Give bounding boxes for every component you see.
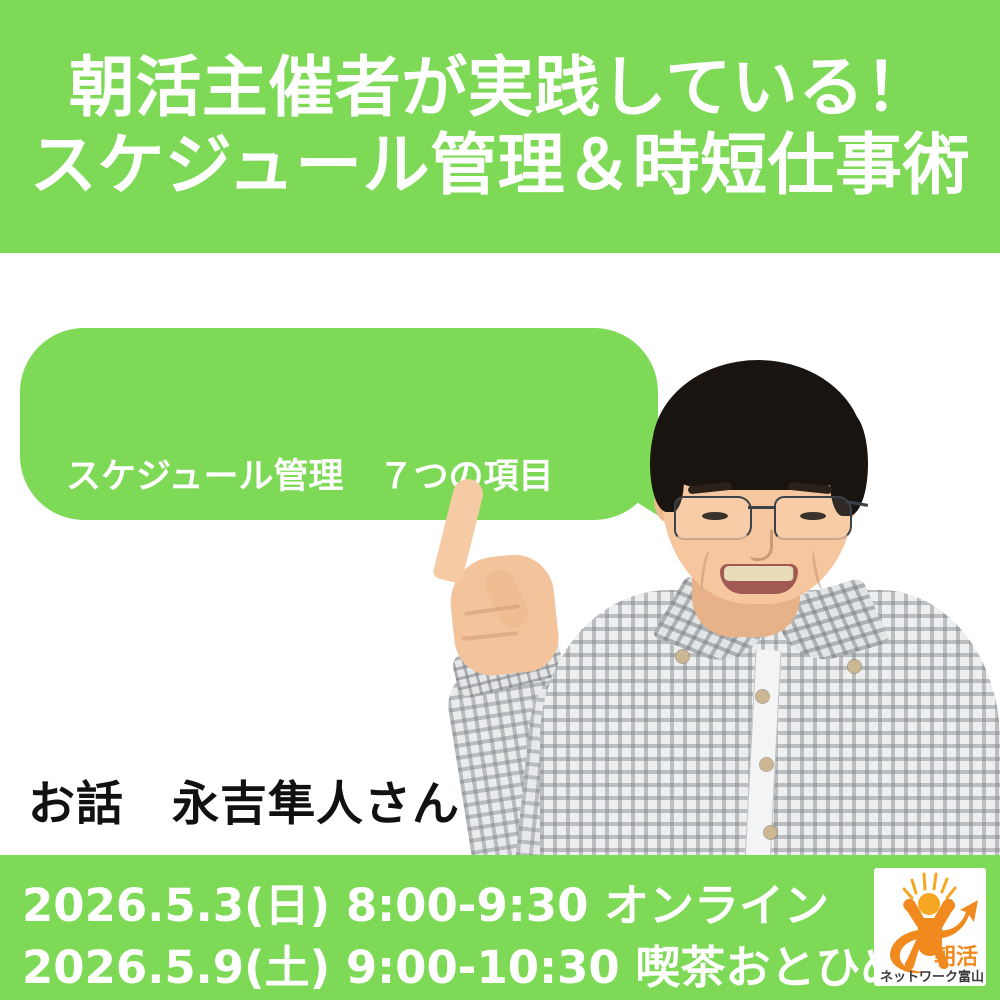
session-line-1: 2026.5.3(日) 8:00-9:30 オンライン <box>22 869 829 934</box>
glasses-bridge <box>748 506 774 509</box>
shirt-button <box>760 758 773 771</box>
logo-name-bottom: ネットワーク富山 <box>880 969 984 985</box>
collar-button <box>848 660 861 673</box>
page-title-line-1: 朝活主催者が実践している！ <box>69 52 932 123</box>
session-line-2: 2026.5.9(土) 9:00-10:30 喫茶おとひめ <box>22 931 905 996</box>
logo-name-top: 朝活 <box>934 944 978 970</box>
collar-button <box>676 650 689 663</box>
teeth <box>724 566 794 581</box>
page-title-line-2: スケジュール管理＆時短仕事術 <box>30 129 970 201</box>
flyer-canvas: 朝活主催者が実践している！ スケジュール管理＆時短仕事術 スケジュール管理 ７つ… <box>0 0 1000 1000</box>
header-band: 朝活主催者が実践している！ スケジュール管理＆時短仕事術 <box>0 0 1000 253</box>
glasses-lens-right <box>774 496 852 540</box>
shirt-button <box>764 826 777 839</box>
organization-logo: 朝活 ネットワーク富山 <box>874 868 986 986</box>
smiling-mouth <box>720 564 798 594</box>
asakatsu-network-toyama-logo-icon: 朝活 ネットワーク富山 <box>874 868 986 986</box>
glasses-lens-left <box>674 496 752 540</box>
speaker-photo <box>430 360 1000 860</box>
footer-band: 2026.5.3(日) 8:00-9:30 オンライン 2026.5.9(土) … <box>0 855 1000 1000</box>
shirt-button <box>756 690 769 703</box>
speaker-name-label: お話 永吉隼人さん <box>28 765 460 834</box>
